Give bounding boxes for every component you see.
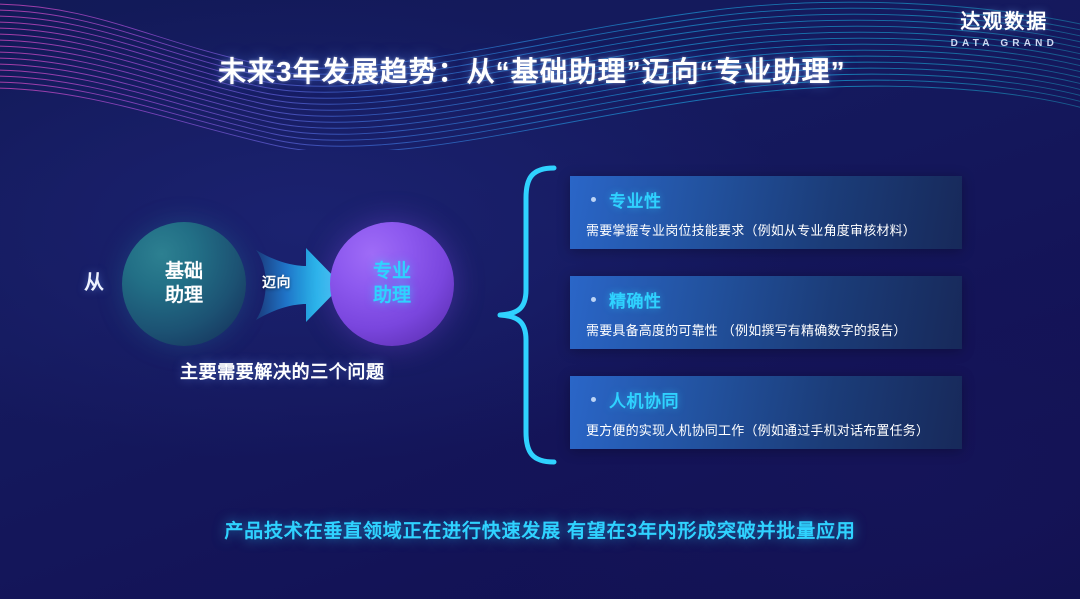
pro-assistant-circle: 专业 助理 bbox=[330, 222, 454, 346]
issue-card: 人机协同 更方便的实现人机协同工作（例如通过手机对话布置任务） bbox=[570, 376, 962, 449]
issue-card-description: 需要掌握专业岗位技能要求（例如从专业角度审核材料） bbox=[586, 220, 946, 239]
issue-card-title: 专业性 bbox=[609, 187, 662, 212]
slide-canvas: 达观数据 DATA GRAND 未来3年发展趋势：从“基础助理”迈向“专业助理”… bbox=[0, 0, 1080, 599]
issue-card-title: 人机协同 bbox=[609, 387, 679, 412]
diagram-caption: 主要需要解决的三个问题 bbox=[180, 358, 385, 384]
issue-card-list: 专业性 需要掌握专业岗位技能要求（例如从专业角度审核材料） 精确性 需要具备高度… bbox=[570, 176, 962, 449]
bullet-icon bbox=[591, 397, 596, 402]
bullet-icon bbox=[591, 197, 596, 202]
pro-assistant-line1: 专业 bbox=[373, 260, 411, 284]
arrow-label: 迈向 bbox=[262, 272, 291, 292]
issue-card: 精确性 需要具备高度的可靠性 （例如撰写有精确数字的报告） bbox=[570, 276, 962, 349]
issue-card-header: 精确性 bbox=[586, 287, 946, 312]
basic-assistant-circle: 基础 助理 bbox=[122, 222, 246, 346]
issue-card: 专业性 需要掌握专业岗位技能要求（例如从专业角度审核材料） bbox=[570, 176, 962, 249]
brand-logo: 达观数据 DATA GRAND bbox=[951, 12, 1058, 49]
pro-assistant-line2: 助理 bbox=[373, 284, 411, 308]
bullet-icon bbox=[591, 297, 596, 302]
from-label: 从 bbox=[84, 266, 104, 295]
issue-card-header: 专业性 bbox=[586, 187, 946, 212]
issue-card-description: 更方便的实现人机协同工作（例如通过手机对话布置任务） bbox=[586, 420, 946, 439]
issue-card-title: 精确性 bbox=[609, 287, 662, 312]
slide-title: 未来3年发展趋势：从“基础助理”迈向“专业助理” bbox=[218, 50, 846, 90]
brand-name-en: DATA GRAND bbox=[951, 39, 1058, 49]
issue-card-header: 人机协同 bbox=[586, 387, 946, 412]
basic-assistant-line2: 助理 bbox=[165, 284, 203, 308]
brand-name-cn: 达观数据 bbox=[951, 12, 1058, 32]
issue-card-description: 需要具备高度的可靠性 （例如撰写有精确数字的报告） bbox=[586, 320, 946, 339]
curly-brace-icon bbox=[492, 162, 562, 468]
footer-conclusion: 产品技术在垂直领域正在进行快速发展 有望在3年内形成突破并批量应用 bbox=[0, 516, 1080, 543]
basic-assistant-line1: 基础 bbox=[165, 260, 203, 284]
